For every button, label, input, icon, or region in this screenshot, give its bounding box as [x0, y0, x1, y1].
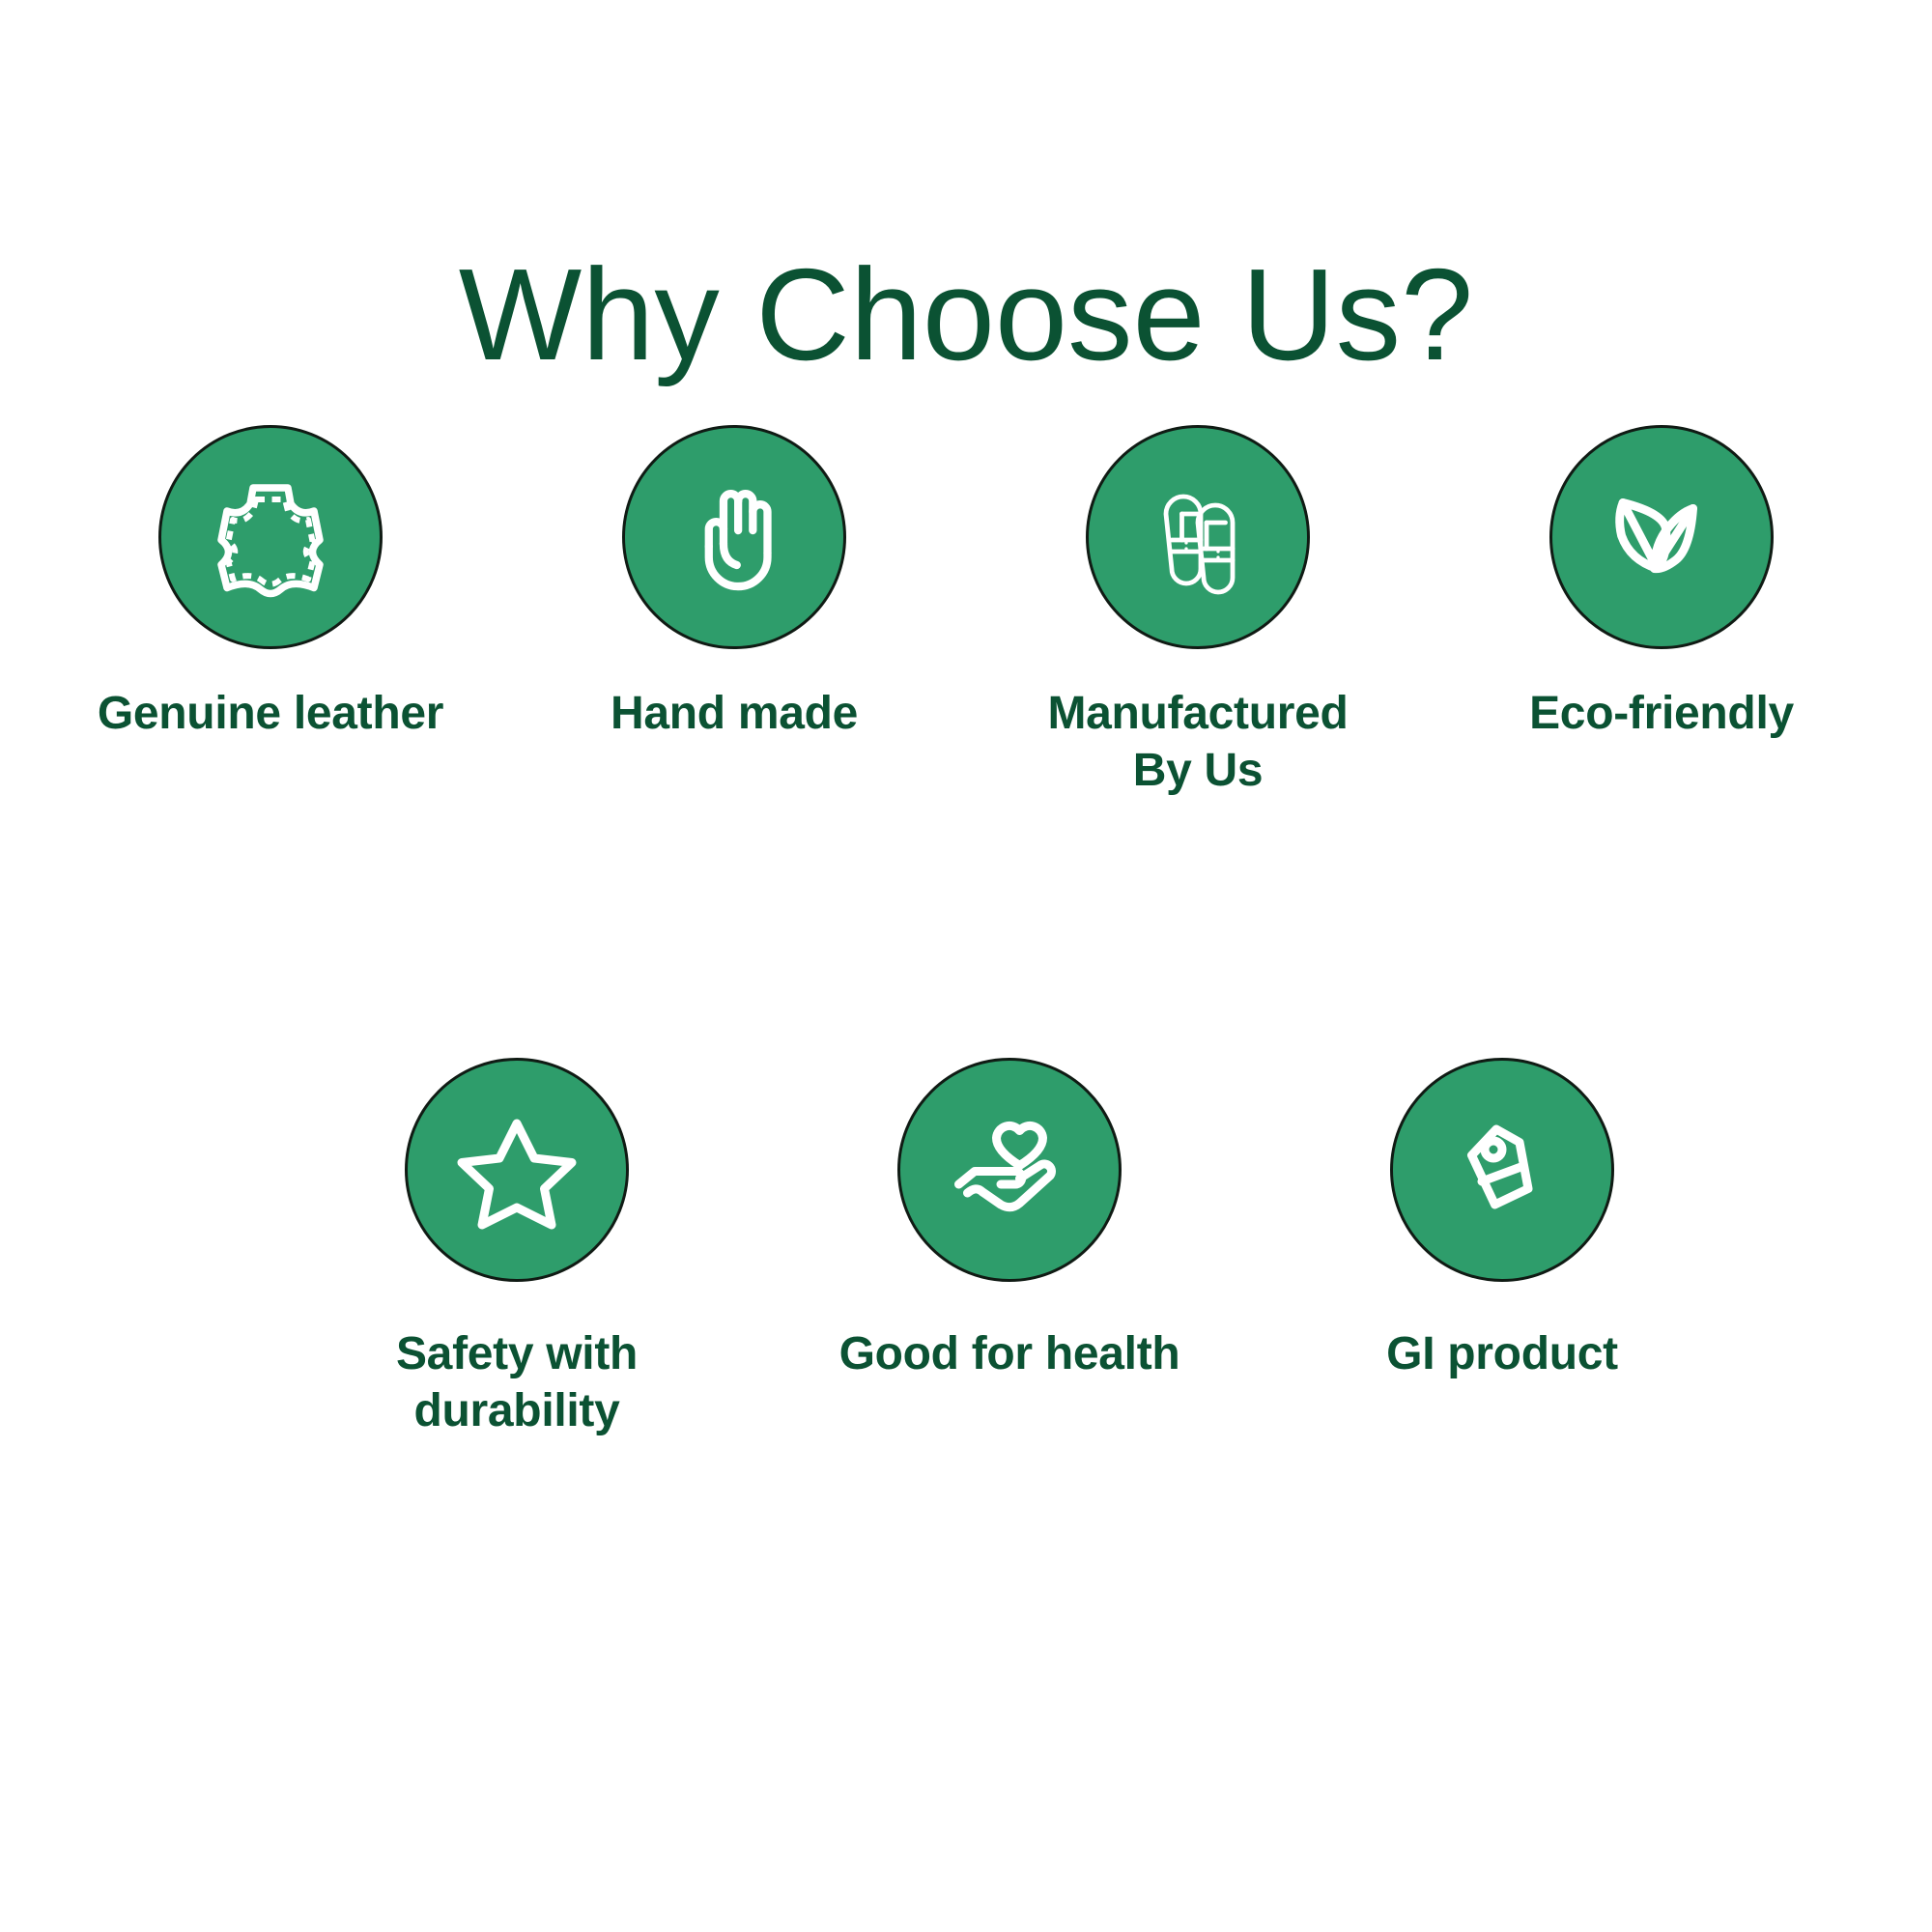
badge-manufactured-by-us: [1086, 425, 1310, 649]
star-icon: [444, 1097, 589, 1242]
feature-label-line-1: Safety with: [396, 1326, 638, 1383]
feature-label-safety-with-durability: Safety with durability: [396, 1326, 638, 1439]
feature-label-hand-made: Hand made: [611, 686, 858, 743]
feature-label-good-for-health: Good for health: [839, 1326, 1180, 1383]
feature-row-bottom: Safety with durability Good for health: [0, 1058, 1932, 1439]
hand-palm-icon: [668, 470, 801, 604]
feature-label-line-2: durability: [396, 1383, 638, 1440]
feature-item-safety-with-durability: Safety with durability: [270, 1058, 763, 1439]
feature-label-manufactured-by-us: Manufactured By Us: [1047, 686, 1348, 799]
feature-row-top: Genuine leather Hand: [0, 425, 1932, 799]
badge-genuine-leather: [158, 425, 383, 649]
badge-good-for-health: [897, 1058, 1122, 1282]
feature-item-hand-made: Hand made: [502, 425, 966, 799]
page-title: Why Choose Us?: [0, 246, 1932, 384]
badge-safety-with-durability: [405, 1058, 629, 1282]
leather-hide-icon: [198, 465, 343, 610]
badge-eco-friendly: [1549, 425, 1774, 649]
price-tag-icon: [1430, 1097, 1575, 1242]
badge-gi-product: [1390, 1058, 1614, 1282]
feature-label-eco-friendly: Eco-friendly: [1529, 686, 1794, 743]
feature-label-gi-product: GI product: [1386, 1326, 1618, 1383]
badge-hand-made: [622, 425, 846, 649]
feature-item-eco-friendly: Eco-friendly: [1430, 425, 1893, 799]
feature-label-line-2: By Us: [1047, 743, 1348, 800]
feature-label-genuine-leather: Genuine leather: [98, 686, 443, 743]
infographic-page: Why Choose Us? Genuine leather: [0, 0, 1932, 1932]
feature-item-good-for-health: Good for health: [763, 1058, 1256, 1439]
feature-item-gi-product: GI product: [1256, 1058, 1748, 1439]
feature-item-genuine-leather: Genuine leather: [39, 425, 502, 799]
heart-in-hand-icon: [937, 1097, 1082, 1242]
leaves-icon: [1590, 466, 1733, 609]
feature-label-line-1: Manufactured: [1047, 686, 1348, 743]
slippers-icon: [1125, 465, 1270, 610]
feature-item-manufactured-by-us: Manufactured By Us: [966, 425, 1430, 799]
